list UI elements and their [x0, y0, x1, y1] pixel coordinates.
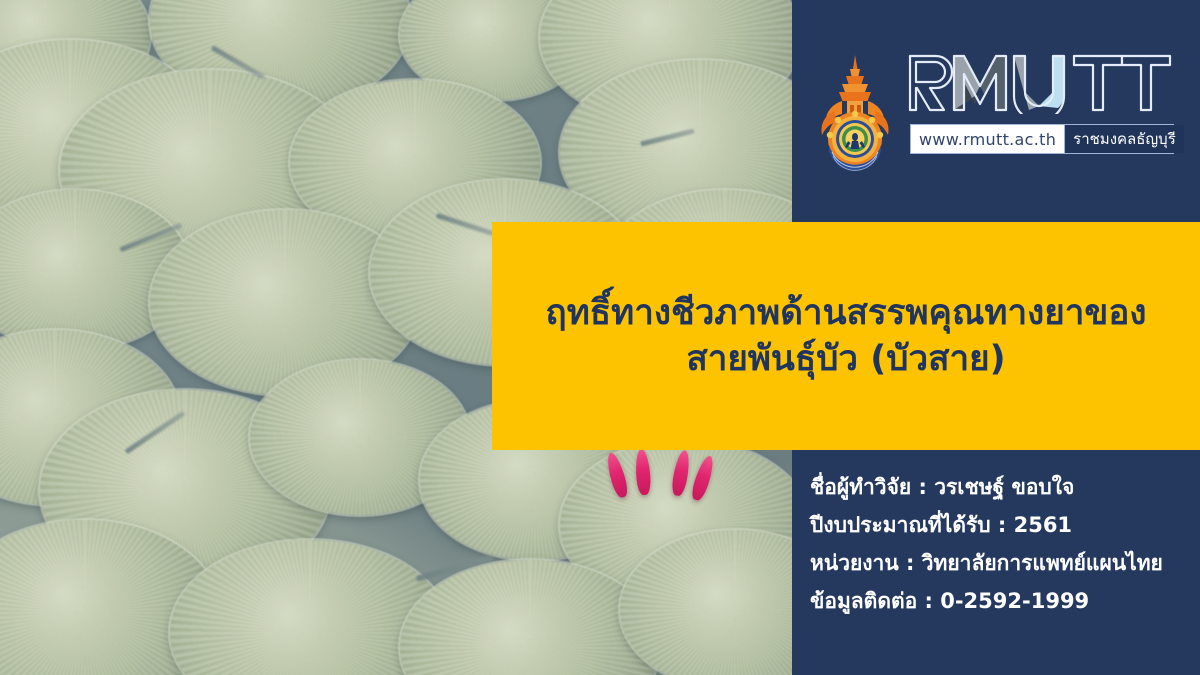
- logo-url-bar[interactable]: www.rmutt.ac.th ราชมงคลธัญบุรี: [910, 124, 1174, 154]
- info-budget-year: ปีงบประมาณที่ได้รับ : 2561: [810, 506, 1190, 544]
- logo-thai-name: ราชมงคลธัญบุรี: [1064, 125, 1184, 153]
- info-contact: ข้อมูลติดต่อ : 0-2592-1999: [810, 582, 1190, 620]
- logo-url-text: www.rmutt.ac.th: [911, 125, 1064, 153]
- page-title-line2: สายพันธุ์บัว (บัวสาย): [686, 336, 1005, 382]
- info-researcher: ชื่อผู้ทำวิจัย : วรเชษฐ์ ขอบใจ: [810, 468, 1190, 506]
- research-poster: www.rmutt.ac.th ราชมงคลธัญบุรี ฤทธิ์ทางช…: [0, 0, 1200, 675]
- research-info-block: ชื่อผู้ทำวิจัย : วรเชษฐ์ ขอบใจ ปีงบประมา…: [810, 468, 1190, 620]
- page-title-line1: ฤทธิ์ทางชีวภาพด้านสรรพคุณทางยาของ: [546, 290, 1147, 336]
- info-department: หน่วยงาน : วิทยาลัยการแพทย์แผนไทย: [810, 544, 1190, 582]
- rmutt-royal-seal-icon: [812, 53, 898, 171]
- rmutt-logo[interactable]: www.rmutt.ac.th ราชมงคลธัญบุรี: [812, 52, 1182, 172]
- title-band: ฤทธิ์ทางชีวภาพด้านสรรพคุณทางยาของ สายพัน…: [492, 222, 1200, 450]
- rmutt-wordmark-icon: [904, 52, 1182, 128]
- rmutt-wordmark-block: www.rmutt.ac.th ราชมงคลธัญบุรี: [904, 56, 1182, 168]
